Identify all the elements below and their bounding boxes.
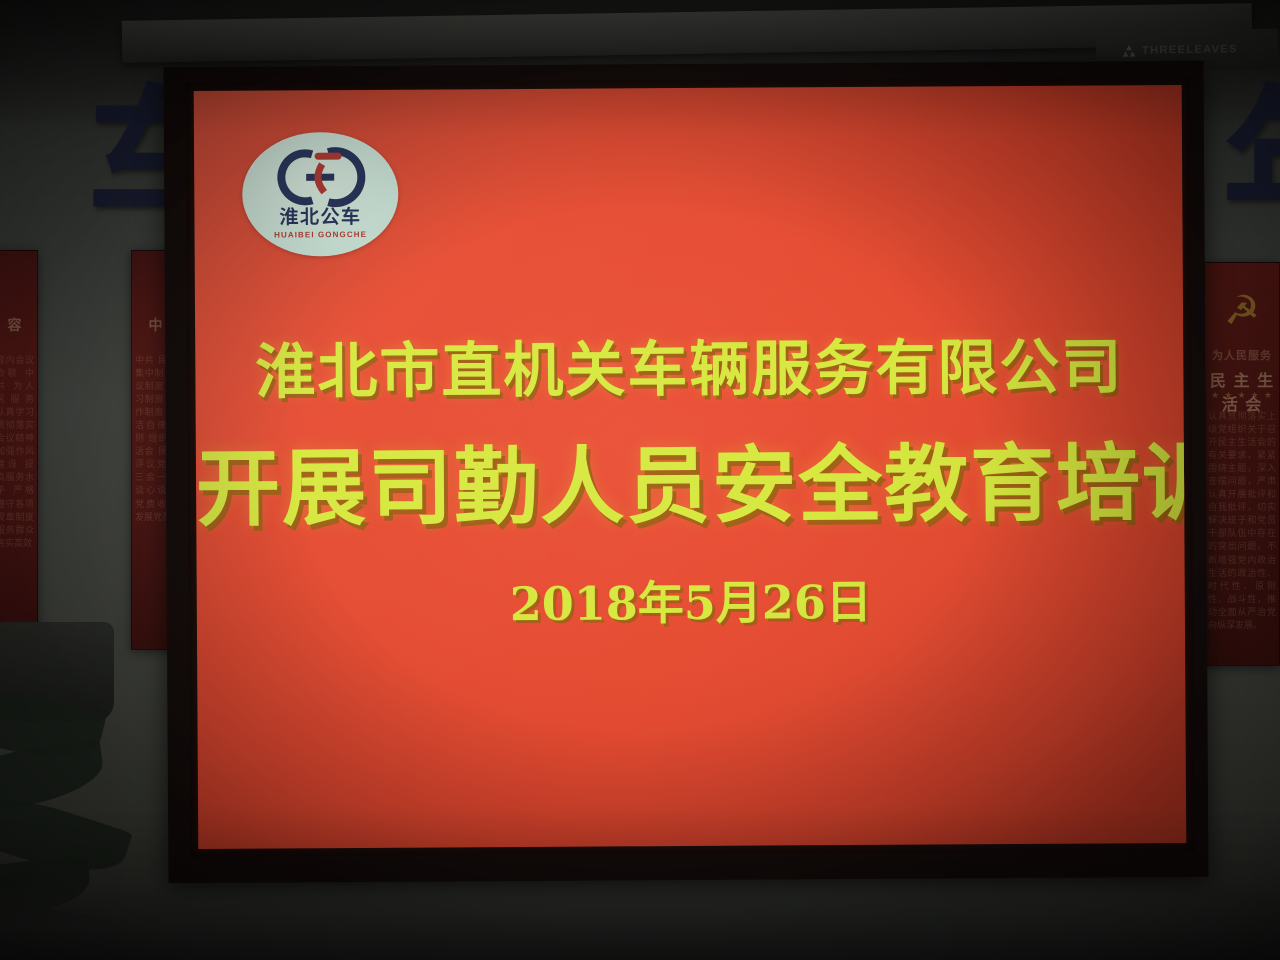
photo-scene: 车 年 容 容内会议合联 中共 为人民服务 认真学习贯彻落实会议精神 加强作风建… [0,0,1280,960]
slide-date: 2018年5月26日 [197,577,1185,629]
poster-left-a-body: 容内会议合联 中共 为人民服务 认真学习贯彻落实会议精神 加强作风建设 提高服务… [0,355,34,551]
projection-screen: 淮北公车 HUAIBEI GONGCHE 淮北市直机关车辆服务有限公司 开展司勤… [164,61,1209,883]
three-diamonds-icon [1122,44,1136,57]
logo-company-pinyin: HUAIBEI GONGCHE [243,231,399,240]
company-logo: 淮北公车 HUAIBEI GONGCHE [242,132,399,257]
poster-right-body: 认真贯彻落实上级党组织关于召开民主生活会的有关要求，紧紧围绕主题，深入查摆问题，… [1208,411,1276,633]
room-floor [0,882,1280,960]
wall-poster-left-a: 容 容内会议合联 中共 为人民服务 认真学习贯彻落实会议精神 加强作风建设 提高… [0,250,38,642]
wall-poster-right: ☭ 为人民服务 民 主 生 活 会 ★ ★ ★ ★ ★ 认真贯彻落实上级党组织关… [1204,262,1280,666]
presentation-slide: 淮北公车 HUAIBEI GONGCHE 淮北市直机关车辆服务有限公司 开展司勤… [194,85,1187,849]
screen-bezel: 淮北公车 HUAIBEI GONGCHE 淮北市直机关车辆服务有限公司 开展司勤… [186,77,1195,857]
logo-company-cn: 淮北公车 [242,208,398,228]
slide-title-line-2: 开展司勤人员安全教育培训 [196,441,1184,531]
hammer-sickle-emblem-icon: ☭ [1224,291,1260,331]
huaibei-gongche-emblem-icon [272,146,368,209]
poster-right-stars: ★ ★ ★ ★ ★ [1205,391,1279,401]
wall-character-right: 年 [1222,84,1280,248]
projector-brand-label: THREELEAVES [1142,43,1238,57]
slide-title-line-1: 淮北市直机关车辆服务有限公司 [195,337,1183,403]
poster-right-head1: 为人民服务 [1205,347,1279,363]
poster-left-a-head: 容 [0,315,37,335]
